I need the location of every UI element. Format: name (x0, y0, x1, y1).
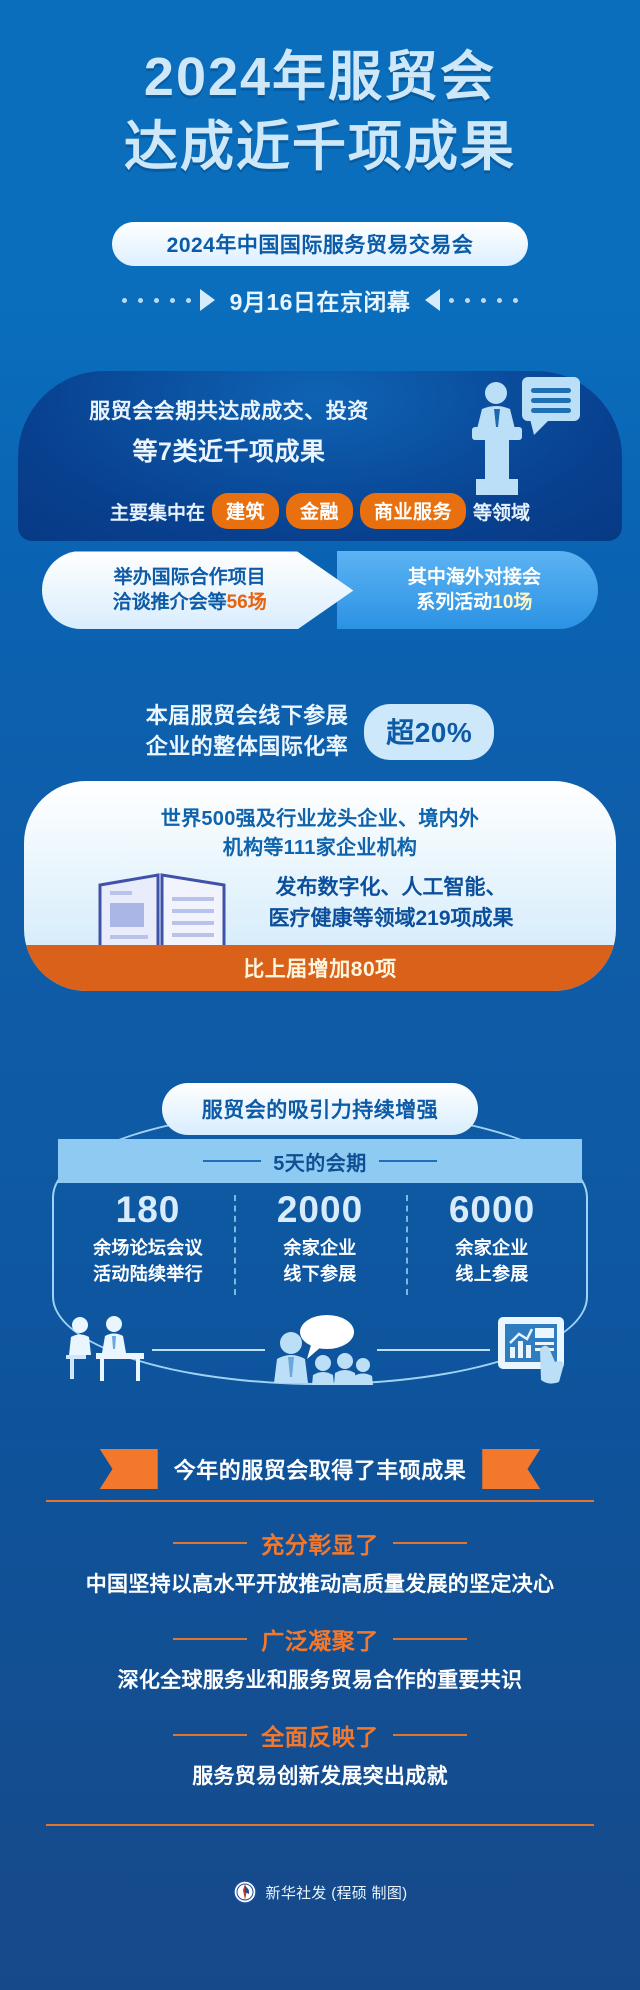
intl-line-2: 企业的整体国际化率 (146, 732, 349, 763)
outcomes-text: 服贸会会期共达成成交、投资 等7类近千项成果 (44, 395, 414, 468)
fields-prefix: 主要集中在 (110, 498, 205, 525)
band-rule-left (203, 1160, 261, 1162)
tablet-chart-icon (494, 1315, 578, 1385)
stat-desc: 余家企业 线上参展 (406, 1236, 578, 1287)
intl-line-1: 本届服贸会线下参展 (146, 701, 349, 732)
band-rule-right (379, 1160, 437, 1162)
stat-desc-line-2: 线下参展 (234, 1262, 406, 1288)
hero-header: 2024年服贸会 达成近千项成果 2024年中国国际服务贸易交易会 9月16日在… (0, 0, 640, 317)
panel-right-number: 10场 (492, 592, 532, 613)
field-tag-construction: 建筑 (212, 493, 279, 529)
panel-right-line-2: 系列活动10场 (416, 590, 532, 616)
ribbon-flag-left-icon (100, 1449, 158, 1489)
book-line-2: 机构等111家企业机构 (42, 834, 598, 863)
stats-row: 180 余场论坛会议 活动陆续举行 2000 余家企业 线下参展 6000 余家… (62, 1191, 578, 1287)
stats-icon-row (62, 1315, 578, 1385)
chevron-panels: 举办国际合作项目 洽谈推介会等56场 其中海外对接会 系列活动10场 (42, 551, 598, 629)
rule-left (173, 1542, 247, 1544)
connector-line (152, 1349, 265, 1351)
conclusion-label: 广泛凝聚了 (261, 1622, 379, 1656)
stat-desc-line-2: 活动陆续举行 (62, 1262, 234, 1288)
achievements-book-card: 世界500强及行业龙头企业、境内外 机构等111家企业机构 发布数字化、人工智能… (24, 781, 616, 991)
field-tag-business-services: 商业服务 (360, 493, 466, 529)
rule-right (393, 1734, 467, 1736)
conclusion-body: 深化全球服务业和服务贸易合作的重要共识 (46, 1664, 594, 1694)
arrow-right-icon (200, 289, 215, 311)
conclusion-item-2: 广泛凝聚了 深化全球服务业和服务贸易合作的重要共识 (46, 1622, 594, 1694)
infographic-page: 2024年服贸会 达成近千项成果 2024年中国国际服务贸易交易会 9月16日在… (0, 0, 640, 1990)
conclusion-item-3: 全面反映了 服务贸易创新发展突出成就 (46, 1718, 594, 1790)
panel-left-line-2: 洽谈推介会等56场 (113, 590, 267, 616)
dot (122, 298, 127, 303)
speaker-podium-icon (458, 375, 584, 499)
rule-left (173, 1734, 247, 1736)
credit-text: 新华社发 (程硕 制图) (266, 1882, 408, 1903)
panel-left-line-1: 举办国际合作项目 (114, 565, 266, 591)
divider-bottom (46, 1824, 594, 1826)
stat-item-online: 6000 余家企业 线上参展 (406, 1191, 578, 1287)
duration-band: 5天的会期 (58, 1139, 582, 1183)
stat-desc: 余家企业 线下参展 (234, 1236, 406, 1287)
dot-run-right (449, 298, 518, 303)
stat-item-forums: 180 余场论坛会议 活动陆续举行 (62, 1191, 234, 1287)
dot (465, 298, 470, 303)
duration-label: 5天的会期 (273, 1147, 367, 1176)
fields-row: 主要集中在 建筑 金融 商业服务 等领域 (18, 493, 622, 529)
dot (186, 298, 191, 303)
outcomes-line-2: 等7类近千项成果 (44, 432, 414, 468)
dot (170, 298, 175, 303)
people-speech-icon (269, 1315, 373, 1385)
dot (513, 298, 518, 303)
conclusion-label: 全面反映了 (261, 1718, 379, 1752)
page-title-line-2: 达成近千项成果 (0, 116, 640, 180)
dot (154, 298, 159, 303)
internationalization-badge: 超20% (364, 704, 494, 760)
conclusion-body: 服务贸易创新发展突出成就 (46, 1760, 594, 1790)
subtitle-pill: 2024年中国国际服务贸易交易会 (112, 222, 528, 266)
fields-suffix: 等领域 (473, 498, 530, 525)
divider-top (46, 1500, 594, 1502)
dot (449, 298, 454, 303)
rule-left (173, 1638, 247, 1640)
panel-left-line-2-text: 洽谈推介会等 (113, 592, 227, 613)
stat-desc-line-1: 余家企业 (406, 1236, 578, 1262)
internationalization-row: 本届服贸会线下参展 企业的整体国际化率 超20% (0, 701, 640, 763)
stat-number: 180 (62, 1191, 234, 1228)
rule-right (393, 1638, 467, 1640)
panel-right-line-1: 其中海外对接会 (408, 565, 541, 591)
stat-desc: 余场论坛会议 活动陆续举行 (62, 1236, 234, 1287)
ribbon-text: 今年的服贸会取得了丰硕成果 (158, 1453, 483, 1485)
panel-cooperation-projects: 举办国际合作项目 洽谈推介会等56场 (42, 551, 353, 629)
ribbon-flag-right-icon (482, 1449, 540, 1489)
panel-left-number: 56场 (227, 592, 267, 613)
panel-overseas-matchmaking: 其中海外对接会 系列活动10场 (337, 551, 598, 629)
conclusions-ribbon: 今年的服贸会取得了丰硕成果 (46, 1449, 594, 1489)
conclusion-head: 充分彰显了 (46, 1526, 594, 1560)
xinhua-logo-icon (233, 1880, 257, 1904)
conclusion-item-1: 充分彰显了 中国坚持以高水平开放推动高质量发展的坚定决心 (46, 1526, 594, 1598)
conclusions-section: 今年的服贸会取得了丰硕成果 充分彰显了 中国坚持以高水平开放推动高质量发展的坚定… (46, 1449, 594, 1790)
connector-line (377, 1349, 490, 1351)
forum-meeting-icon (62, 1315, 148, 1385)
conclusion-body: 中国坚持以高水平开放推动高质量发展的坚定决心 (46, 1568, 594, 1598)
date-banner: 9月16日在京闭幕 (0, 283, 640, 317)
dot (497, 298, 502, 303)
outcomes-line-1: 服贸会会期共达成成交、投资 (44, 395, 414, 425)
rule-right (393, 1542, 467, 1544)
dot-run-left (122, 298, 191, 303)
stat-item-offline: 2000 余家企业 线下参展 (234, 1191, 406, 1287)
outcomes-dome-card: 服贸会会期共达成成交、投资 等7类近千项成果 主要集中在 建筑 金融 商业服务 … (18, 371, 622, 541)
page-title-line-1: 2024年服贸会 (0, 46, 640, 110)
book-line-1: 世界500强及行业龙头企业、境内外 (42, 805, 598, 834)
attraction-pill: 服贸会的吸引力持续增强 (162, 1083, 478, 1135)
footer-credit: 新华社发 (程硕 制图) (0, 1880, 640, 1904)
arrow-left-icon (425, 289, 440, 311)
conclusion-head: 广泛凝聚了 (46, 1622, 594, 1656)
attraction-section: 服贸会的吸引力持续增强 5天的会期 180 余场论坛会议 活动陆续举行 2000… (0, 1083, 640, 1413)
conclusion-head: 全面反映了 (46, 1718, 594, 1752)
conclusion-label: 充分彰显了 (261, 1526, 379, 1560)
dot (481, 298, 486, 303)
date-text: 9月16日在京闭幕 (224, 283, 417, 317)
stat-desc-line-1: 余家企业 (234, 1236, 406, 1262)
field-tag-finance: 金融 (286, 493, 353, 529)
stat-desc-line-2: 线上参展 (406, 1262, 578, 1288)
panel-right-line-2-text: 系列活动 (416, 592, 492, 613)
stat-number: 2000 (234, 1191, 406, 1228)
internationalization-text: 本届服贸会线下参展 企业的整体国际化率 (146, 701, 349, 763)
stat-number: 6000 (406, 1191, 578, 1228)
dot (138, 298, 143, 303)
book-orange-footer: 比上届增加80项 (24, 945, 616, 991)
stat-desc-line-1: 余场论坛会议 (62, 1236, 234, 1262)
